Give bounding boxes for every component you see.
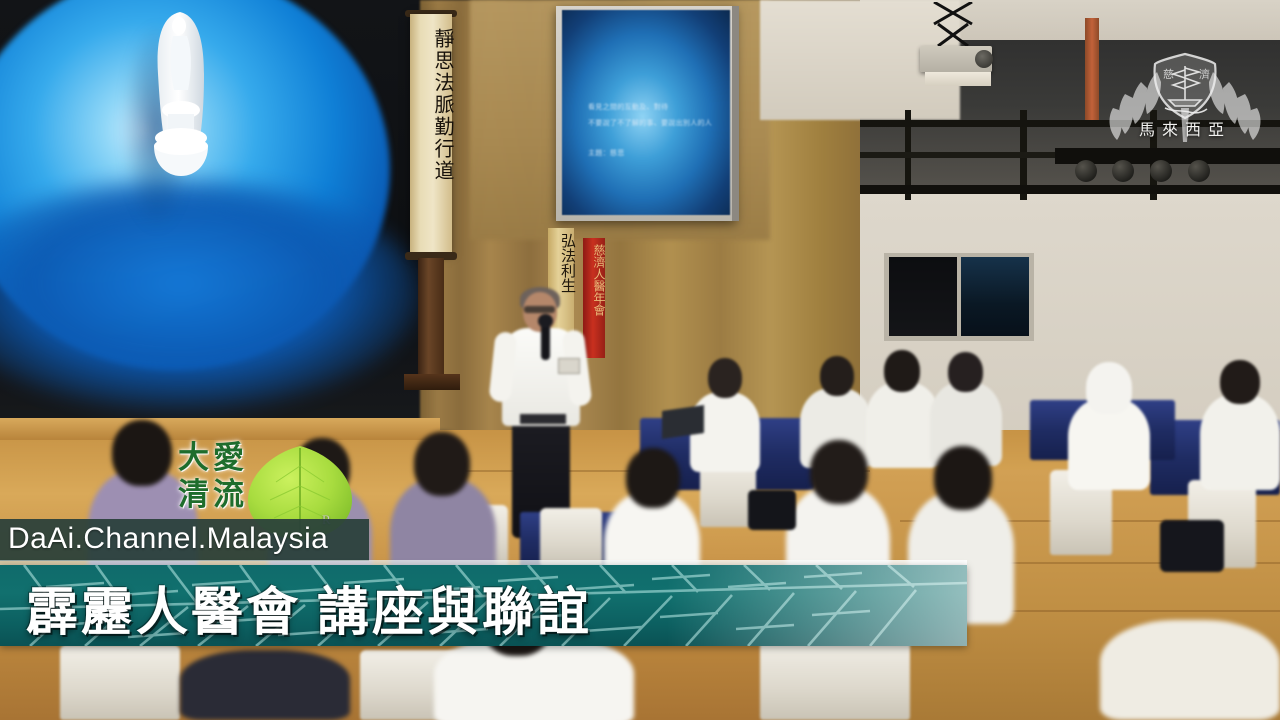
lower-third-title-text: 霹靂人醫會 講座與聯誼 xyxy=(26,570,592,645)
lower-third-title-band: 霹靂人醫會 講座與聯誼 xyxy=(0,565,967,646)
red-vertical-banner: 慈濟人醫年會 xyxy=(583,238,605,358)
projector-mount-plate xyxy=(925,72,991,86)
window-pane-left xyxy=(889,257,957,336)
channel-name-bar: DaAi.Channel.Malaysia xyxy=(0,519,369,561)
slide-text-line-2: 不要說了不了解的事、要說出別人的人 xyxy=(588,118,712,128)
calligraphy-scroll: 靜思法脈勤行道 xyxy=(410,14,452,254)
channel-name-text: DaAi.Channel.Malaysia xyxy=(8,522,328,556)
video-frame: 看見之間的互動及、對待 不要說了不了解的事、要說出別人的人 主題：慈悲 靜思法脈… xyxy=(0,0,1280,720)
spotlight-icon xyxy=(1188,160,1210,182)
buddha-statue-icon xyxy=(140,10,225,225)
projector-lens-icon xyxy=(975,50,993,68)
daai-logo-line-1: 大愛 xyxy=(178,440,248,475)
svg-text:濟: 濟 xyxy=(1199,67,1210,81)
projection-screen-edge xyxy=(732,6,739,221)
scroll-wooden-stand xyxy=(418,258,444,378)
daai-logo-line-2: 清流 xyxy=(178,477,248,512)
red-banner-text: 慈濟人醫年會 xyxy=(583,244,605,316)
eyeglasses-icon xyxy=(524,306,555,313)
plastic-chair xyxy=(540,508,602,566)
laptop-icon xyxy=(662,405,704,439)
daai-logo-chinese: 大愛清流 xyxy=(178,440,303,513)
scissor-lift-icon xyxy=(930,2,976,48)
calligraphy-scroll-text: 靜思法脈勤行道 xyxy=(410,28,452,182)
railing-bar xyxy=(860,185,1280,194)
plastic-chair xyxy=(760,640,910,720)
svg-text:慈: 慈 xyxy=(1163,67,1174,81)
spotlight-icon xyxy=(1112,160,1134,182)
spotlight-icon xyxy=(1075,160,1097,182)
plastic-chair xyxy=(60,645,180,720)
bag xyxy=(1160,520,1224,572)
scroll-stand-base xyxy=(404,374,460,390)
spotlight-icon xyxy=(1150,160,1172,182)
slide-text-line-3: 主題：慈悲 xyxy=(588,148,625,158)
bag xyxy=(748,490,796,530)
slide-text-line-1: 看見之間的互動及、對待 xyxy=(588,102,668,112)
name-badge xyxy=(558,358,580,374)
side-scroll-text: 弘法利生 xyxy=(548,233,574,293)
window-pane-right xyxy=(961,257,1029,336)
station-logo-caption: 馬來西亞 xyxy=(1095,116,1275,140)
projection-screen-surface: 看見之間的互動及、對待 不要說了不了解的事、要說出別人的人 主題：慈悲 xyxy=(562,10,730,215)
